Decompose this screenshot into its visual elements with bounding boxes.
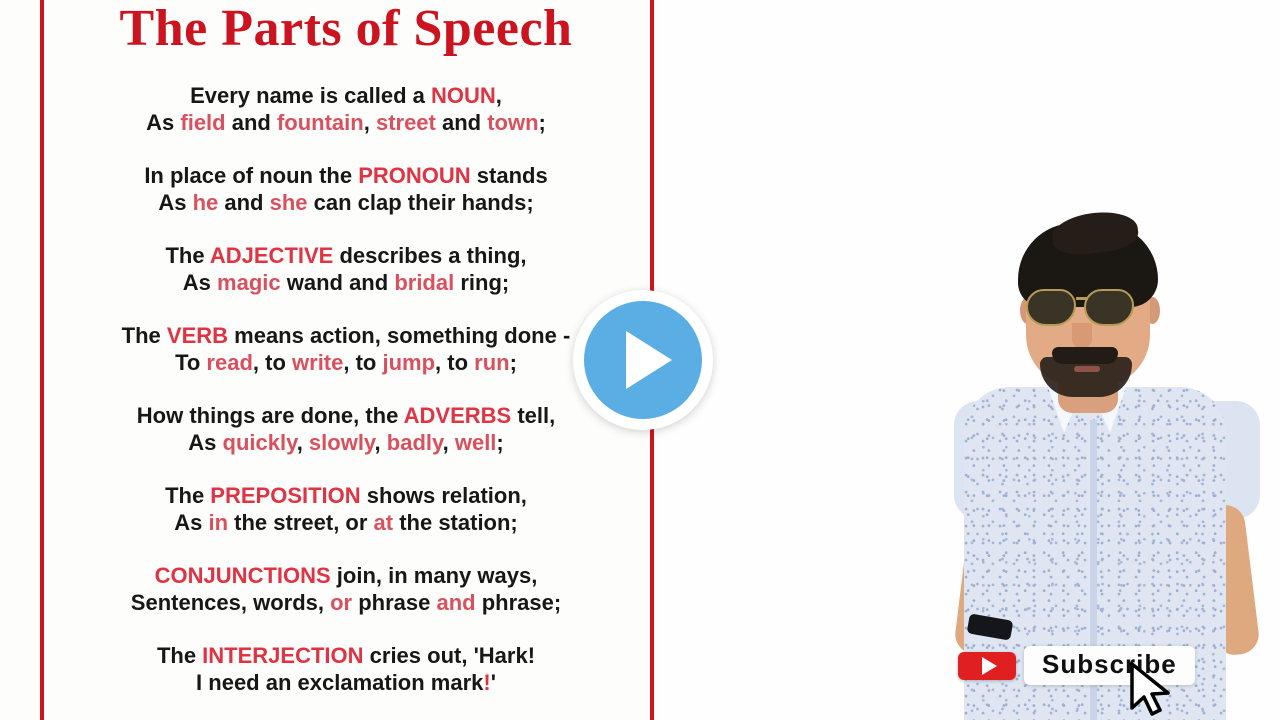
poem-text: and <box>218 190 269 215</box>
poem-text: ring; <box>454 270 509 295</box>
poem-line: As in the street, or at the station; <box>46 509 646 536</box>
poem-line: CONJUNCTIONS join, in many ways, <box>46 562 646 589</box>
poem-text: Every name is called a <box>190 83 431 108</box>
stanza-verb: The VERB means action, something done -T… <box>46 322 646 376</box>
lips <box>1074 366 1100 372</box>
poem-highlight: he <box>193 190 219 215</box>
poem-text: , to <box>253 350 292 375</box>
poem-line: I need an exclamation mark!' <box>46 669 646 696</box>
poem-poster: The Parts of Speech Every name is called… <box>0 0 660 720</box>
poem-text: ; <box>510 350 517 375</box>
poem-highlight: badly <box>387 430 443 455</box>
sunglasses-lens-left <box>1026 289 1076 326</box>
poem-text: The <box>122 323 167 348</box>
poem-text: ' <box>491 670 496 695</box>
poem-text: The <box>165 483 210 508</box>
sunglasses-bridge <box>1076 297 1088 300</box>
poem-text: phrase <box>352 590 436 615</box>
poem-line: As magic wand and bridal ring; <box>46 269 646 296</box>
poem-line: The INTERJECTION cries out, 'Hark! <box>46 642 646 669</box>
poem-text: As <box>183 270 217 295</box>
poem-text: can clap their hands; <box>308 190 534 215</box>
subscribe-button[interactable]: Subscribe <box>1024 646 1195 685</box>
poem-line: To read, to write, to jump, to run; <box>46 349 646 376</box>
poem-line: Sentences, words, or phrase and phrase; <box>46 589 646 616</box>
poem-text: , to <box>343 350 382 375</box>
sunglasses-lens-right <box>1084 289 1134 326</box>
poem-line: As field and fountain, street and town; <box>46 109 646 136</box>
poem-highlight: PRONOUN <box>358 163 470 188</box>
left-red-rule <box>40 0 44 720</box>
poem-text: Sentences, words, <box>131 590 330 615</box>
poem-text: How things are done, the <box>137 403 404 428</box>
poem-text: , <box>443 430 455 455</box>
poem-line: As quickly, slowly, badly, well; <box>46 429 646 456</box>
youtube-triangle-glyph <box>982 657 997 675</box>
poem-highlight: and <box>436 590 475 615</box>
poem-highlight: quickly <box>223 430 297 455</box>
poem-text: stands <box>471 163 548 188</box>
poem-highlight: ! <box>483 670 490 695</box>
poem-line: As he and she can clap their hands; <box>46 189 646 216</box>
poem-text: and <box>226 110 277 135</box>
poem-text: As <box>174 510 208 535</box>
presenter-photo <box>940 205 1280 720</box>
poem-line: How things are done, the ADVERBS tell, <box>46 402 646 429</box>
subscribe-bar[interactable]: Subscribe <box>958 646 1195 685</box>
poem-highlight: CONJUNCTIONS <box>155 563 331 588</box>
poem-highlight: she <box>270 190 308 215</box>
poem-highlight: slowly <box>309 430 375 455</box>
video-frame: The Parts of Speech Every name is called… <box>0 0 1280 720</box>
poem-text: The <box>165 243 209 268</box>
poem-text: , to <box>435 350 474 375</box>
youtube-play-icon[interactable] <box>958 652 1016 680</box>
poem-text: shows relation, <box>361 483 527 508</box>
poem-text: As <box>146 110 180 135</box>
poem-text: tell, <box>511 403 555 428</box>
poem-text: cries out, 'Hark! <box>364 643 536 668</box>
poem-text: , <box>297 430 309 455</box>
poem-highlight: ADVERBS <box>404 403 512 428</box>
poem-text: means action, something done - <box>228 323 570 348</box>
play-button[interactable] <box>573 290 713 430</box>
poem-text: phrase; <box>476 590 562 615</box>
poem-highlight: or <box>330 590 352 615</box>
stanza-adjective: The ADJECTIVE describes a thing,As magic… <box>46 242 646 296</box>
page-title: The Parts of Speech <box>44 0 648 60</box>
poem-text: As <box>188 430 222 455</box>
poem-highlight: bridal <box>394 270 454 295</box>
poem-highlight: NOUN <box>431 83 496 108</box>
poem-text: and <box>436 110 487 135</box>
poem-highlight: at <box>374 510 394 535</box>
poem-highlight: PREPOSITION <box>210 483 360 508</box>
poem-highlight: town <box>487 110 538 135</box>
poem-line: Every name is called a NOUN, <box>46 82 646 109</box>
poem-text: ; <box>539 110 546 135</box>
poem-line: The PREPOSITION shows relation, <box>46 482 646 509</box>
play-triangle-icon <box>626 331 672 389</box>
poem-highlight: well <box>455 430 497 455</box>
poem-highlight: read <box>206 350 252 375</box>
poem-line: In place of noun the PRONOUN stands <box>46 162 646 189</box>
stanza-conjunction: CONJUNCTIONS join, in many ways,Sentence… <box>46 562 646 616</box>
stanza-adverb: How things are done, the ADVERBS tell,As… <box>46 402 646 456</box>
poem-text: , <box>364 110 376 135</box>
poem-highlight: run <box>474 350 509 375</box>
poem-highlight: INTERJECTION <box>202 643 363 668</box>
poem-text: the street, or <box>228 510 373 535</box>
poem-text: join, in many ways, <box>331 563 538 588</box>
poem-highlight: ADJECTIVE <box>210 243 333 268</box>
poem-text: In place of noun the <box>144 163 358 188</box>
poem-text: The <box>157 643 202 668</box>
poem-text: To <box>175 350 206 375</box>
poem-verses: Every name is called a NOUN,As field and… <box>46 82 646 696</box>
poem-text: , <box>496 83 502 108</box>
poem-text: , <box>375 430 387 455</box>
poem-text: wand and <box>281 270 395 295</box>
poem-highlight: fountain <box>277 110 364 135</box>
stanza-noun: Every name is called a NOUN,As field and… <box>46 82 646 136</box>
poem-line: The ADJECTIVE describes a thing, <box>46 242 646 269</box>
poem-highlight: jump <box>382 350 435 375</box>
stanza-interjection: The INTERJECTION cries out, 'Hark!I need… <box>46 642 646 696</box>
poem-highlight: magic <box>217 270 281 295</box>
poem-highlight: write <box>292 350 343 375</box>
poem-highlight: VERB <box>167 323 228 348</box>
poem-line: The VERB means action, something done - <box>46 322 646 349</box>
poem-text: ; <box>496 430 503 455</box>
poem-highlight: in <box>208 510 228 535</box>
poem-highlight: street <box>376 110 436 135</box>
poem-text: I need an exclamation mark <box>196 670 483 695</box>
poem-text: describes a thing, <box>333 243 526 268</box>
poem-text: As <box>158 190 192 215</box>
sunglasses-icon <box>1022 289 1154 327</box>
poem-highlight: field <box>180 110 225 135</box>
moustache <box>1052 347 1118 364</box>
stanza-pronoun: In place of noun the PRONOUN standsAs he… <box>46 162 646 216</box>
poem-text: the station; <box>393 510 518 535</box>
play-button-disc <box>584 301 702 419</box>
stanza-preposition: The PREPOSITION shows relation,As in the… <box>46 482 646 536</box>
